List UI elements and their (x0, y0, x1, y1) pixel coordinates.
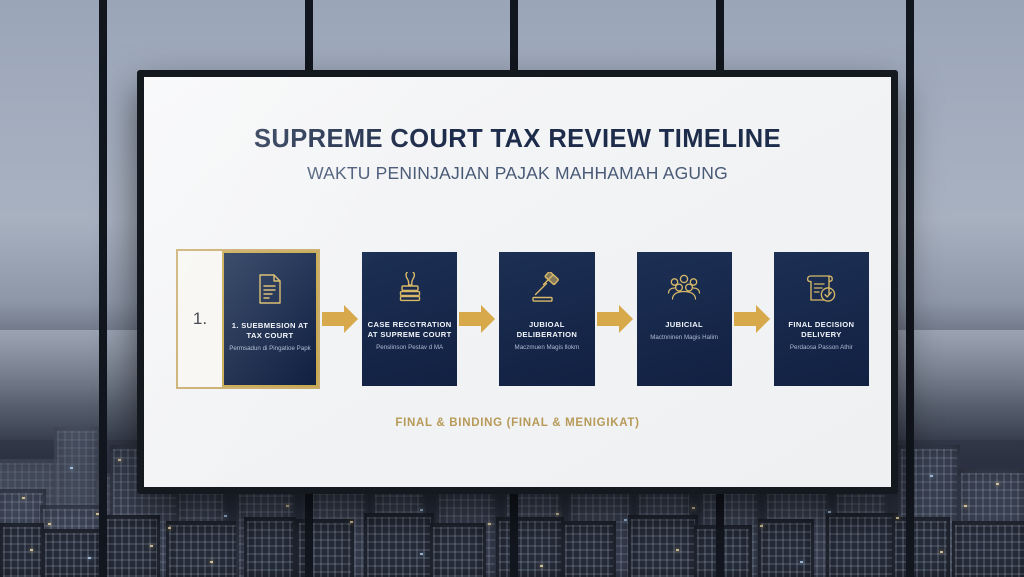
page-title: SUPREME COURT TAX REVIEW TIMELINE (144, 125, 891, 154)
gavel-icon (530, 266, 564, 310)
wall-mounted-display: SUPREME COURT TAX REVIEW TIMELINE WAKTU … (137, 70, 898, 494)
stamp-icon (395, 266, 425, 310)
step-subtitle: Penslinson Pestav d MA (372, 344, 447, 352)
certificate-check-icon (804, 266, 838, 310)
next-step-arrow (459, 305, 497, 333)
document-icon (256, 267, 284, 311)
slide-footer-note: FINAL & BINDING (FINAL & MENIGIKAT) (144, 417, 891, 429)
step-subtitle: Maczmuen Magis llokm (511, 344, 584, 352)
presentation-slide: SUPREME COURT TAX REVIEW TIMELINE WAKTU … (144, 77, 891, 487)
step-subtitle: Mactnninen Magis Halim (646, 334, 722, 342)
step-subtitle: Permsadun di Pingatioe Papk (225, 345, 315, 353)
next-step-arrow (734, 305, 772, 333)
step-title: JUBICIAL (660, 320, 708, 330)
office-window-scene: SUPREME COURT TAX REVIEW TIMELINE WAKTU … (0, 0, 1024, 577)
timeline-step-1[interactable]: 1. (176, 249, 320, 389)
step-subtitle: Perdaosa Passon Athir (786, 344, 857, 352)
step-title: CASE RECGTRATION AT SUPREME COURT (362, 320, 457, 340)
window-transom (0, 0, 1024, 10)
step-card-4[interactable]: JUBICIAL Mactnninen Magis Halim (637, 252, 732, 386)
window-mullion (99, 0, 116, 577)
step-index-badge: 1. (178, 251, 222, 387)
step-card-5[interactable]: FINAL DECISION DELIVERY Perdaosa Passon … (774, 252, 869, 386)
slide-heading-block: SUPREME COURT TAX REVIEW TIMELINE WAKTU … (144, 125, 891, 184)
step-card-1[interactable]: 1. SUEBMESION AT TAX COURT Permsadun di … (222, 251, 318, 387)
window-mullion (906, 0, 923, 577)
selection-frame[interactable]: 1. (176, 249, 320, 389)
people-icon (666, 266, 702, 310)
timeline-row: 1. (176, 249, 869, 389)
step-card-3[interactable]: JUBIOAL DELIBERATION Maczmuen Magis llok… (499, 252, 594, 386)
page-subtitle: WAKTU PENINJAJIAN PAJAK MAHHAMAH AGUNG (144, 163, 891, 184)
step-title: FINAL DECISION DELIVERY (774, 320, 869, 340)
next-step-arrow (322, 305, 360, 333)
step-title: JUBIOAL DELIBERATION (499, 320, 594, 340)
next-step-arrow (597, 305, 635, 333)
step-title: 1. SUEBMESION AT TAX COURT (224, 321, 316, 341)
step-card-2[interactable]: CASE RECGTRATION AT SUPREME COURT Pensli… (362, 252, 457, 386)
